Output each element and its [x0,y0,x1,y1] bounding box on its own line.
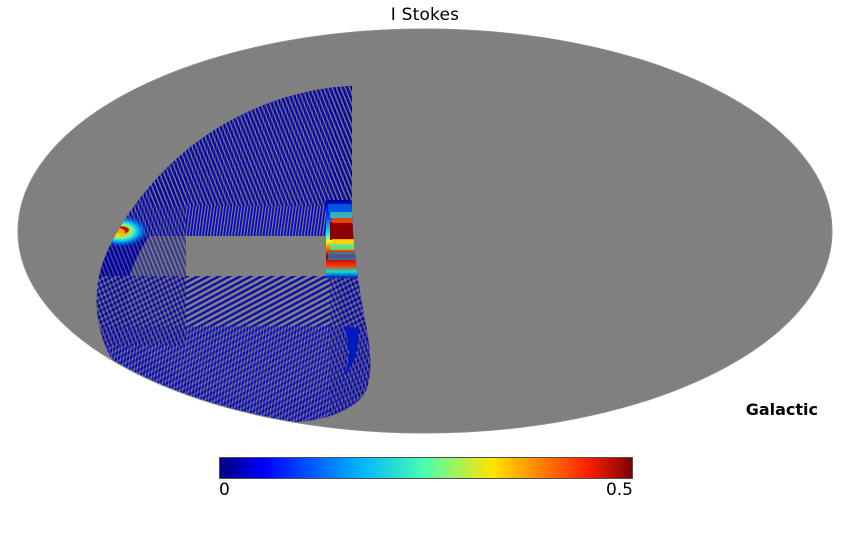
colorbar-gradient[interactable] [219,457,633,479]
colorbar[interactable]: 0 0.5 [219,457,633,504]
page-title: I Stokes [0,4,850,26]
colorbar-max-label: 0.5 [606,480,633,500]
sky-map-canvas [0,26,850,438]
colorbar-tick-labels: 0 0.5 [219,480,633,504]
coordinate-system-label: Galactic [746,400,818,419]
mollweide-sky-map-figure: I Stokes [0,0,850,540]
sky-map-svg [0,26,850,438]
colorbar-min-label: 0 [219,480,230,500]
